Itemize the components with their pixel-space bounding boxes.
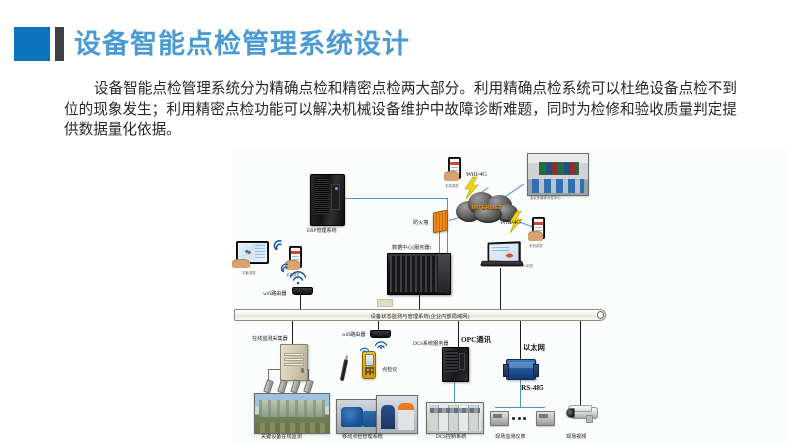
mobile-system-label: 移动点检管理系统 (342, 433, 383, 440)
dcs-server-label: DCS系统服务器 (413, 340, 448, 347)
converter-din-clip (503, 364, 509, 377)
body-paragraph: 设备智能点检管理系统分为精确点检和精密点检两大部分。利用精确点检系统可以杜绝设备… (64, 79, 737, 141)
camera-mount-bracket (586, 415, 593, 423)
rs485-label: RS-485 (521, 383, 544, 392)
dcs-control-label: DCS控制系统 (436, 433, 466, 440)
router-body (370, 330, 391, 338)
key-equipment-label: 关键设备在线监测 (261, 433, 302, 440)
link-bus-to-dcs-server (458, 321, 459, 347)
vibration-sensor (263, 379, 274, 394)
dcs-server-bay (446, 351, 459, 373)
link-laptop-to-bus (500, 268, 501, 310)
link-bus-to-ethernet (520, 321, 521, 359)
vibration-probe-pen (340, 359, 348, 381)
hand-holding-tablet (232, 259, 250, 268)
vibration-sensor (303, 379, 314, 394)
wifi4g-top-label: Wifi/4G (466, 171, 487, 178)
datacenter-server-rack (387, 253, 451, 295)
laptop-keyboard-base (480, 261, 524, 267)
rack-blade-array (390, 256, 438, 292)
collector-slot (284, 353, 304, 356)
instrument-bus-line (495, 407, 545, 408)
field-instrument (490, 411, 509, 426)
link-erp-to-datacenter-h (343, 198, 448, 199)
conference-label: 会议多媒体分控中心 (530, 195, 561, 200)
field-video-label: 现场视频 (566, 433, 586, 440)
mobile-inspection-worker-photo (376, 395, 418, 434)
ellipsis-icon (512, 417, 526, 420)
field-instrument (536, 411, 555, 426)
internet-cloud-label: INTERNET (464, 205, 510, 211)
hand-holding-phone (444, 171, 459, 181)
wifi-router-device (292, 287, 311, 295)
tower-vent-grill (314, 178, 329, 214)
hand-holding-phone (528, 231, 543, 241)
field-instruments-label: 现场监测仪表 (495, 433, 526, 440)
dcs-server-drive (459, 353, 466, 370)
online-monitoring-collector (280, 344, 308, 381)
laptop-device (481, 242, 521, 268)
pda-screen (365, 354, 374, 366)
link-router-top-to-bus (300, 295, 301, 310)
pda-keypad (365, 367, 374, 374)
ethernet-serial-converter (506, 359, 536, 380)
slide-canvas: 设备智能点检管理系统设计 设备智能点检管理系统分为精确点检和精密点检两大部分。利… (0, 0, 790, 444)
wifi-signal-icon (374, 338, 388, 349)
page-title: 设备智能点检管理系统设计 (74, 25, 410, 63)
firewall-brick-icon (433, 210, 448, 234)
erp-label: ERP管理系统 (307, 227, 337, 234)
phone-bottom-label: 手机浏览 (529, 243, 543, 248)
key-equipment-photo (254, 393, 330, 434)
converter-din-clip (533, 364, 539, 377)
datacenter-label: 数据中心(服务器) (392, 244, 431, 251)
slide-header: 设备智能点检管理系统设计 (0, 27, 790, 63)
wifi-signal-icon (359, 344, 370, 353)
wifi4g-bottom-label: Wifi/4G (500, 219, 521, 226)
rack-base (392, 293, 447, 295)
erp-server-tower (310, 174, 345, 226)
header-accent-bar (55, 27, 64, 61)
pda-label: 点检仪 (382, 366, 397, 373)
collector-slot (284, 358, 304, 361)
lan-bus-bar: 设备状态监测与管理系统(企业内部局域网) (234, 309, 606, 321)
laptop-label: PC浏览 (522, 263, 533, 268)
conference-room-photo (527, 153, 589, 196)
opc-label: OPC通讯 (461, 335, 491, 345)
handheld-inspection-terminal (362, 351, 376, 379)
laptop-screen (489, 243, 518, 261)
firewall-label: 防火墙 (413, 219, 428, 226)
collector-knob (301, 368, 304, 373)
link-dcs-server-to-control (454, 381, 455, 403)
wifi-signal-icon (272, 238, 285, 250)
dcs-control-cabinet-photo (426, 402, 484, 434)
vibration-sensor (277, 379, 288, 394)
rack-side-panel (438, 254, 450, 294)
wifi-signal-icon (288, 271, 308, 285)
dcs-server-tower (442, 347, 469, 382)
converter-top-strip (509, 362, 534, 367)
vibration-sensor (290, 379, 301, 394)
field-video-camera (564, 405, 598, 420)
wifi-router-device (370, 330, 389, 338)
router-body (292, 287, 313, 295)
link-bus-to-camera (580, 321, 581, 405)
tablet-label: 平板浏览 (242, 270, 256, 275)
ethernet-label: 以太网 (523, 343, 545, 353)
collector-slot (284, 363, 304, 366)
phone-top-label: 手机浏览 (445, 183, 459, 188)
camera-lens-icon (566, 408, 575, 418)
router-top-label: wifi路由器 (263, 290, 287, 297)
collector-label: 在线监测采集器 (252, 335, 288, 342)
lan-bus-label: 设备状态监测与管理系统(企业内部局域网) (235, 313, 605, 320)
bus-end-cap (597, 311, 604, 319)
system-architecture-diagram: 设备状态监测与管理系统(企业内部局域网) ERP管理系统 防火墙 INTERNE… (232, 149, 788, 444)
router-bottom-label: wifi路由器 (342, 331, 366, 338)
header-accent-square (14, 27, 50, 61)
bus-note-block (377, 299, 393, 307)
